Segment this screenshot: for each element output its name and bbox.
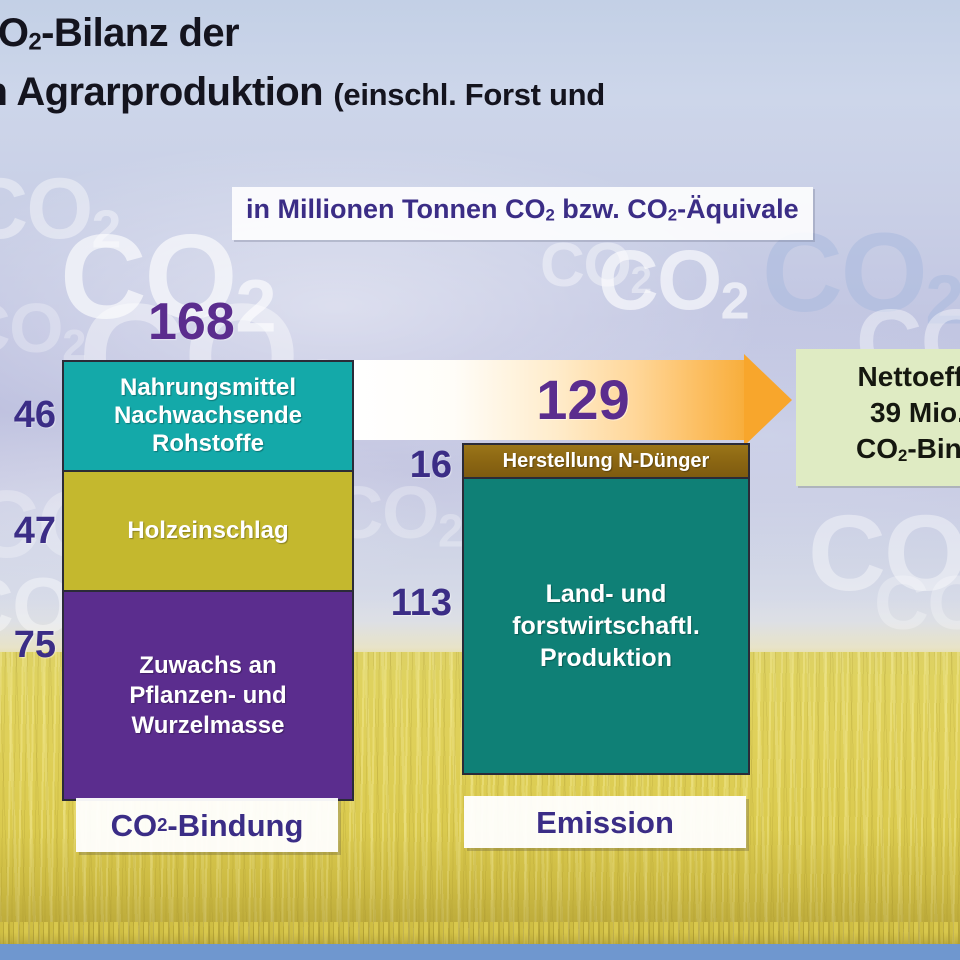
- co2-watermark-7: CO2: [540, 230, 651, 303]
- caption-emission: Emission: [464, 796, 746, 848]
- title-co2-subscript: 2: [28, 28, 41, 55]
- net-effect-callout: Nettoeffek 39 Mio. t CO2-Bindu: [796, 349, 960, 486]
- callout-line-2: 39 Mio. t: [810, 395, 960, 431]
- caption-binding-pre: CO: [111, 810, 158, 841]
- callout-line-3-sub: 2: [898, 446, 907, 465]
- value-label-biomass: 75: [0, 626, 56, 664]
- co2-watermark-8: CO2: [598, 232, 748, 331]
- title-line-1-tail: -Bilanz der: [41, 11, 239, 55]
- segment-production-line-3: Produktion: [512, 642, 700, 674]
- value-label-food: 46: [0, 396, 56, 434]
- segment-food-renewables: Nahrungsmittel Nachwachsende Rohstoffe: [64, 362, 352, 470]
- value-label-fertilizer: 16: [390, 446, 452, 484]
- emission-bar: Herstellung N-Dünger Land- und forstwirt…: [462, 443, 750, 775]
- segment-nitrogen-fertilizer: Herstellung N-Dünger: [464, 445, 748, 479]
- subtitle-tail: -Äquivale: [677, 194, 799, 224]
- value-label-production: 113: [372, 584, 452, 622]
- co2-watermark-12: CO2: [874, 560, 960, 648]
- segment-production-line-1: Land- und: [512, 578, 700, 610]
- binding-total-value: 168: [148, 296, 235, 348]
- title-line-2: tschen Agrarproduktion (einschl. Forst u…: [0, 67, 960, 120]
- segment-biomass-line-3: Wurzelmasse: [129, 711, 286, 741]
- segment-biomass-line-1: Zuwachs an: [129, 651, 286, 681]
- co2-binding-bar: Nahrungsmittel Nachwachsende Rohstoffe H…: [62, 360, 354, 801]
- emission-total-value: 129: [352, 360, 744, 440]
- callout-line-1: Nettoeffek: [810, 359, 960, 395]
- subtitle-sub-1: 2: [545, 206, 554, 225]
- page-title: itive CO2-Bilanz der tschen Agrarprodukt…: [0, 8, 960, 120]
- segment-food-line-2: Nachwachsende: [114, 402, 302, 430]
- title-line-1: itive CO2-Bilanz der: [0, 8, 960, 67]
- title-parenthetical: (einschl. Forst und: [333, 77, 604, 112]
- segment-biomass-line-2: Pflanzen- und: [129, 681, 286, 711]
- co2-watermark-11: CO2: [808, 490, 960, 618]
- subtitle-pre: in Millionen Tonnen CO: [246, 194, 545, 224]
- title-line-1-text: itive CO: [0, 11, 28, 55]
- title-line-2-text: tschen Agrarproduktion: [0, 70, 323, 114]
- infographic-root: CO2CO2CO2CO2CO2CO2CO2CO2CO2CO2CO2CO2CO2 …: [0, 0, 960, 960]
- caption-co2-binding: CO2-Bindung: [76, 798, 338, 852]
- caption-binding-sub: 2: [157, 816, 167, 835]
- segment-fertilizer-label: Herstellung N-Dünger: [503, 450, 710, 472]
- segment-timber-label: Holzeinschlag: [127, 517, 288, 545]
- callout-line-3-tail: -Bindu: [907, 433, 960, 464]
- segment-food-line-3: Rohstoffe: [114, 430, 302, 458]
- segment-timber: Holzeinschlag: [64, 470, 352, 592]
- unit-subtitle-box: in Millionen Tonnen CO2 bzw. CO2-Äquival…: [232, 187, 813, 240]
- co2-watermark-0: CO2: [0, 160, 120, 261]
- segment-agri-forestry-production: Land- und forstwirtschaftl. Produktion: [464, 479, 748, 773]
- emission-arrow: 129: [352, 360, 792, 440]
- segment-biomass: Zuwachs an Pflanzen- und Wurzelmasse: [64, 592, 352, 799]
- segment-production-line-2: forstwirtschaftl.: [512, 610, 700, 642]
- co2-watermark-2: CO2: [0, 288, 85, 371]
- value-label-timber: 47: [0, 512, 56, 550]
- callout-line-3-pre: CO: [856, 433, 898, 464]
- subtitle-sub-2: 2: [668, 206, 677, 225]
- subtitle-mid: bzw. CO: [555, 194, 668, 224]
- segment-food-line-1: Nahrungsmittel: [114, 374, 302, 402]
- arrow-head-icon: [744, 354, 792, 446]
- caption-binding-tail: -Bindung: [167, 810, 303, 841]
- callout-line-3: CO2-Bindu: [810, 431, 960, 474]
